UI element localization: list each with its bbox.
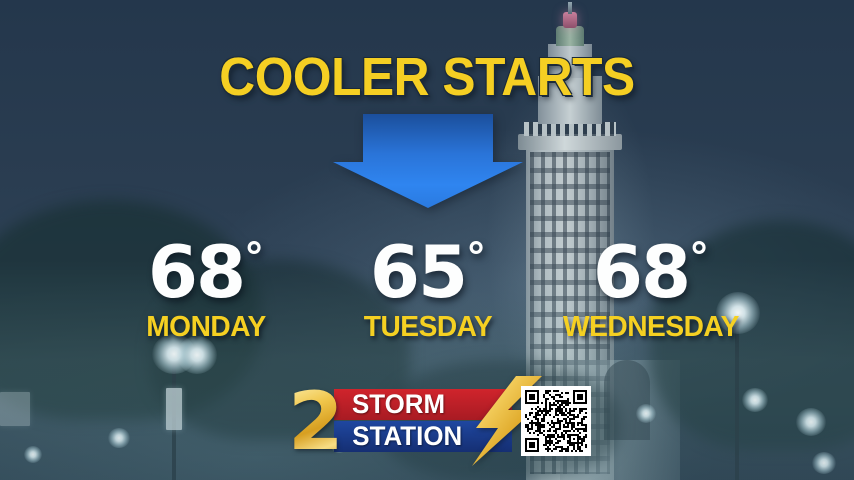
qr-code[interactable]: [521, 386, 591, 456]
weather-graphic-stage: COOLER STARTS 68° MONDAY 65° TUESDAY 68°…: [0, 0, 854, 480]
down-arrow-icon: [333, 114, 523, 208]
station-logo-bug: 2 STORM STATION: [288, 378, 550, 464]
capitol-spire-tip: [568, 2, 572, 14]
headline-text: COOLER STARTS: [34, 50, 820, 104]
capitol-crenellation: [524, 122, 616, 136]
day-label-wednesday: WEDNESDAY: [543, 312, 758, 342]
forecast-day-tuesday: 65° TUESDAY: [318, 236, 538, 342]
capitol-cornice: [518, 134, 622, 150]
temperature-tuesday-value: 65: [370, 230, 466, 314]
forecast-row: 68° MONDAY 65° TUESDAY 68° WEDNESDAY: [0, 236, 854, 346]
logo-storm-text: STORM: [352, 389, 445, 420]
logo-station-text: STATION: [352, 421, 462, 452]
forecast-day-monday: 68° MONDAY: [96, 236, 316, 342]
temperature-wednesday-value: 68: [593, 230, 689, 314]
day-label-monday: MONDAY: [99, 312, 312, 342]
day-label-tuesday: TUESDAY: [321, 312, 534, 342]
qr-code-canvas: [525, 390, 587, 452]
capitol-lantern: [563, 12, 577, 28]
temperature-tuesday: 65°: [318, 236, 538, 308]
degree-symbol-tuesday: °: [466, 235, 486, 281]
logo-channel-number: 2: [288, 382, 340, 462]
temperature-monday: 68°: [96, 236, 316, 308]
degree-symbol-monday: °: [244, 235, 264, 281]
degree-symbol-wednesday: °: [689, 235, 709, 281]
temperature-monday-value: 68: [148, 230, 244, 314]
temperature-wednesday: 68°: [540, 236, 762, 308]
forecast-day-wednesday: 68° WEDNESDAY: [540, 236, 762, 342]
capitol-cupola: [556, 26, 584, 46]
